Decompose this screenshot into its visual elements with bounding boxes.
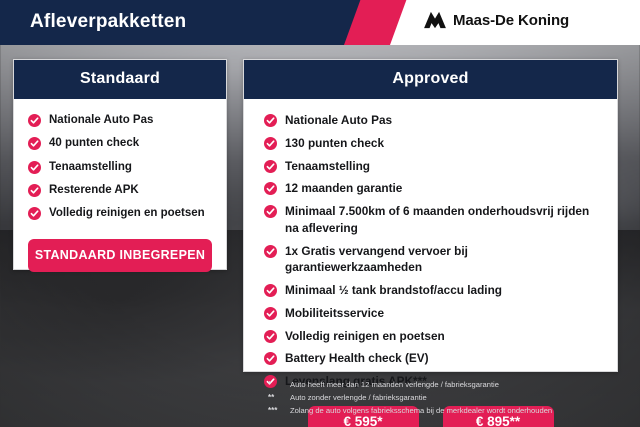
feature-label: Volledig reinigen en poetsen [285,328,445,345]
feature-label: Minimaal 7.500km of 6 maanden onderhouds… [285,203,605,237]
feature-label: Volledig reinigen en poetsen [49,205,205,221]
list-item: Tenaamstelling [264,158,605,175]
footnote-row: * Auto heeft meer dan 12 maanden verleng… [268,379,628,391]
list-item: Volledig reinigen en poetsen [28,205,216,221]
check-circle-icon [28,114,41,127]
list-item: Minimaal ½ tank brandstof/accu lading [264,282,605,299]
feature-label: Resterende APK [49,182,139,198]
check-circle-icon [28,184,41,197]
feature-label: 1x Gratis vervangend vervoer bij garanti… [285,243,605,277]
brand-name: Maas-De Koning [453,12,569,29]
feature-label: Tenaamstelling [285,158,370,175]
feature-label: Battery Health check (EV) [285,350,429,367]
check-circle-icon [264,352,277,365]
list-item: Nationale Auto Pas [28,112,216,128]
standaard-card-heading: Standaard [14,60,226,99]
feature-label: 12 maanden garantie [285,180,402,197]
feature-label: Nationale Auto Pas [285,112,392,129]
list-item: 40 punten check [28,135,216,151]
approved-card: Approved Nationale Auto Pas 130 punten c… [243,59,618,372]
check-circle-icon [264,205,277,218]
page-header: Afleverpakketten Maas-De Koning [0,0,640,45]
feature-label: Tenaamstelling [49,159,132,175]
standaard-inbegrepen-button[interactable]: STANDAARD INBEGREPEN [28,239,212,272]
footnote-text: Zolang de auto volgens fabrieksschema bi… [290,405,552,417]
footnote-mark: ** [268,392,290,404]
page-title: Afleverpakketten [30,11,186,33]
maas-de-koning-m-logo-icon [424,10,446,30]
feature-label: Minimaal ½ tank brandstof/accu lading [285,282,502,299]
footnote-text: Auto zonder verlengde / fabrieksgarantie [290,392,427,404]
check-circle-icon [264,160,277,173]
standaard-cta-wrapper: STANDAARD INBEGREPEN [14,229,226,288]
feature-label: Nationale Auto Pas [49,112,153,128]
list-item: Minimaal 7.500km of 6 maanden onderhouds… [264,203,605,237]
check-circle-icon [264,330,277,343]
list-item: 12 maanden garantie [264,180,605,197]
check-circle-icon [28,137,41,150]
list-item: 1x Gratis vervangend vervoer bij garanti… [264,243,605,277]
footnote-mark: * [268,379,290,391]
feature-label: 40 punten check [49,135,139,151]
standaard-feature-list: Nationale Auto Pas 40 punten check Tenaa… [14,99,226,222]
approved-feature-list: Nationale Auto Pas 130 punten check Tena… [244,99,617,390]
feature-label: 130 punten check [285,135,384,152]
check-circle-icon [264,245,277,258]
list-item: Battery Health check (EV) [264,350,605,367]
list-item: Mobiliteitsservice [264,305,605,322]
check-circle-icon [264,182,277,195]
footnote-mark: *** [268,405,290,417]
brand-logo: Maas-De Koning [424,10,569,30]
list-item: Volledig reinigen en poetsen [264,328,605,345]
approved-card-heading: Approved [244,60,617,99]
list-item: Nationale Auto Pas [264,112,605,129]
footnote-row: ** Auto zonder verlengde / fabrieksgaran… [268,392,628,404]
list-item: Tenaamstelling [28,159,216,175]
footnote-text: Auto heeft meer dan 12 maanden verlengde… [290,379,499,391]
feature-label: Mobiliteitsservice [285,305,384,322]
standaard-card: Standaard Nationale Auto Pas 40 punten c… [13,59,227,270]
footnote-row: *** Zolang de auto volgens fabrieksschem… [268,405,628,417]
check-circle-icon [264,137,277,150]
check-circle-icon [28,207,41,220]
footnotes: * Auto heeft meer dan 12 maanden verleng… [268,379,628,418]
list-item: 130 punten check [264,135,605,152]
check-circle-icon [264,284,277,297]
check-circle-icon [264,307,277,320]
check-circle-icon [264,114,277,127]
check-circle-icon [28,161,41,174]
list-item: Resterende APK [28,182,216,198]
afleverpakketten-page: Afleverpakketten Maas-De Koning Standaar… [0,0,640,427]
